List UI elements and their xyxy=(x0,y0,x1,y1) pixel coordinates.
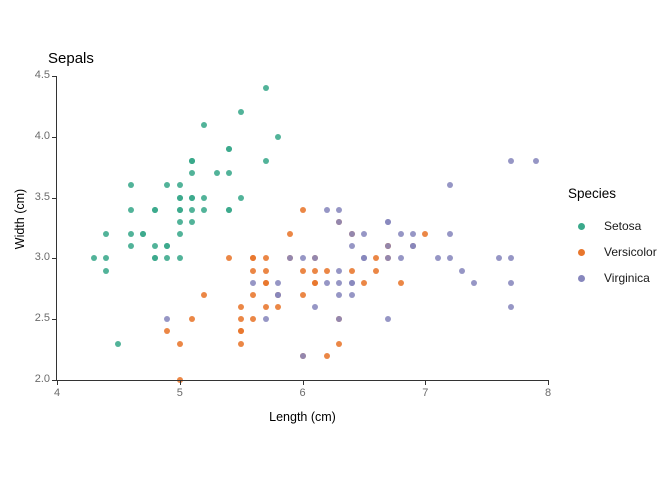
x-tick-label: 7 xyxy=(415,387,435,399)
scatter-point xyxy=(177,255,183,261)
scatter-point xyxy=(275,304,281,310)
scatter-point xyxy=(287,231,293,237)
scatter-point xyxy=(385,243,391,249)
scatter-point xyxy=(177,341,183,347)
scatter-point xyxy=(336,280,342,286)
scatter-point xyxy=(201,207,207,213)
y-tick-label: 2.5 xyxy=(24,313,50,324)
scatter-point xyxy=(373,268,379,274)
scatter-point xyxy=(263,158,269,164)
scatter-point xyxy=(189,195,195,201)
scatter-point xyxy=(300,207,306,213)
scatter-point xyxy=(152,243,158,249)
scatter-point xyxy=(140,231,146,237)
x-tick-mark xyxy=(548,381,549,385)
scatter-point xyxy=(349,280,355,286)
scatter-point xyxy=(312,255,318,261)
scatter-point xyxy=(361,231,367,237)
scatter-point xyxy=(471,280,477,286)
scatter-point xyxy=(275,280,281,286)
y-tick-mark xyxy=(52,76,56,77)
legend-item[interactable]: Versicolor xyxy=(568,239,657,265)
scatter-point xyxy=(201,292,207,298)
x-tick-mark xyxy=(425,381,426,385)
scatter-point xyxy=(177,219,183,225)
x-axis-title: Length (cm) xyxy=(0,410,605,424)
y-axis-line xyxy=(56,76,57,381)
scatter-point xyxy=(250,280,256,286)
scatter-point xyxy=(263,255,269,261)
scatter-point xyxy=(336,316,342,322)
scatter-point xyxy=(508,304,514,310)
x-tick-mark xyxy=(303,381,304,385)
scatter-point xyxy=(177,182,183,188)
scatter-point xyxy=(115,341,121,347)
scatter-point xyxy=(508,280,514,286)
scatter-point xyxy=(533,158,539,164)
y-tick-label: 3.5 xyxy=(24,192,50,203)
y-tick-mark xyxy=(52,198,56,199)
scatter-point xyxy=(164,316,170,322)
scatter-point xyxy=(385,219,391,225)
scatter-point xyxy=(250,268,256,274)
y-tick-mark xyxy=(52,380,56,381)
scatter-point xyxy=(226,170,232,176)
scatter-point xyxy=(324,207,330,213)
scatter-point xyxy=(263,304,269,310)
scatter-point xyxy=(238,341,244,347)
scatter-point xyxy=(128,207,134,213)
scatter-point xyxy=(324,268,330,274)
scatter-point xyxy=(164,182,170,188)
scatter-point xyxy=(385,316,391,322)
scatter-point xyxy=(189,316,195,322)
y-tick-label: 4.5 xyxy=(24,70,50,81)
chart-title: Sepals xyxy=(48,50,94,67)
scatter-point xyxy=(324,353,330,359)
scatter-point xyxy=(103,268,109,274)
scatter-point xyxy=(508,255,514,261)
scatter-point xyxy=(398,255,404,261)
scatter-point xyxy=(336,207,342,213)
scatter-point xyxy=(164,328,170,334)
scatter-point xyxy=(447,182,453,188)
scatter-point xyxy=(263,85,269,91)
scatter-point xyxy=(410,243,416,249)
plot-panel xyxy=(57,76,548,380)
scatter-point xyxy=(238,316,244,322)
scatter-point xyxy=(275,292,281,298)
scatter-point xyxy=(189,170,195,176)
scatter-point xyxy=(91,255,97,261)
scatter-point xyxy=(152,207,158,213)
scatter-points-layer xyxy=(57,76,548,380)
scatter-point xyxy=(238,195,244,201)
scatter-point xyxy=(324,280,330,286)
y-tick-label: 4.0 xyxy=(24,131,50,142)
scatter-point xyxy=(226,146,232,152)
x-tick-label: 5 xyxy=(170,387,190,399)
scatter-point xyxy=(164,255,170,261)
scatter-point xyxy=(508,158,514,164)
y-tick-mark xyxy=(52,137,56,138)
scatter-point xyxy=(336,341,342,347)
legend-marker-icon xyxy=(578,249,585,256)
x-tick-mark xyxy=(57,381,58,385)
y-tick-label: 3.0 xyxy=(24,252,50,263)
scatter-point xyxy=(226,207,232,213)
scatter-point xyxy=(152,255,158,261)
scatter-point xyxy=(275,134,281,140)
scatter-point xyxy=(238,109,244,115)
scatter-point xyxy=(385,255,391,261)
scatter-point xyxy=(312,304,318,310)
scatter-point xyxy=(312,280,318,286)
scatter-point xyxy=(336,219,342,225)
scatter-point xyxy=(201,195,207,201)
scatter-point xyxy=(238,304,244,310)
scatter-point xyxy=(103,231,109,237)
legend-item-label: Versicolor xyxy=(604,245,657,259)
scatter-point xyxy=(312,268,318,274)
scatter-point xyxy=(336,268,342,274)
scatter-point xyxy=(300,255,306,261)
scatter-point xyxy=(189,158,195,164)
scatter-point xyxy=(398,280,404,286)
scatter-point xyxy=(459,268,465,274)
x-tick-label: 8 xyxy=(538,387,558,399)
scatter-point xyxy=(361,280,367,286)
scatter-point xyxy=(128,231,134,237)
y-tick-mark xyxy=(52,319,56,320)
scatter-point xyxy=(410,231,416,237)
scatter-point xyxy=(287,255,293,261)
scatter-point xyxy=(398,231,404,237)
scatter-point xyxy=(263,316,269,322)
scatter-point xyxy=(128,243,134,249)
scatter-point xyxy=(263,280,269,286)
y-tick-mark xyxy=(52,258,56,259)
y-tick-label: 2.0 xyxy=(24,374,50,385)
scatter-point xyxy=(373,255,379,261)
scatter-point xyxy=(189,207,195,213)
x-tick-label: 6 xyxy=(293,387,313,399)
scatter-point xyxy=(164,243,170,249)
scatter-point xyxy=(263,268,269,274)
legend: Species SetosaVersicolorVirginica xyxy=(568,186,657,291)
x-tick-label: 4 xyxy=(47,387,67,399)
scatter-point xyxy=(128,182,134,188)
scatter-point xyxy=(496,255,502,261)
legend-marker-icon xyxy=(578,223,585,230)
scatter-point xyxy=(238,328,244,334)
scatter-point xyxy=(226,255,232,261)
scatter-point xyxy=(250,292,256,298)
legend-entries: SetosaVersicolorVirginica xyxy=(568,213,657,291)
scatter-point xyxy=(447,255,453,261)
scatter-point xyxy=(250,255,256,261)
scatter-point xyxy=(177,231,183,237)
y-axis-title: Width (cm) xyxy=(13,159,27,279)
scatter-point xyxy=(189,219,195,225)
scatter-point xyxy=(177,195,183,201)
scatter-point xyxy=(349,231,355,237)
legend-item[interactable]: Virginica xyxy=(568,265,657,291)
scatter-point xyxy=(300,268,306,274)
scatter-point xyxy=(349,268,355,274)
scatter-point xyxy=(250,316,256,322)
chart-container: Sepals 2.02.53.03.54.04.5 45678 Length (… xyxy=(0,0,672,480)
legend-marker-icon xyxy=(578,275,585,282)
scatter-point xyxy=(349,243,355,249)
scatter-point xyxy=(300,292,306,298)
scatter-point xyxy=(435,255,441,261)
scatter-point xyxy=(300,353,306,359)
scatter-point xyxy=(447,231,453,237)
scatter-point xyxy=(422,231,428,237)
legend-item-label: Setosa xyxy=(604,219,641,233)
scatter-point xyxy=(214,170,220,176)
scatter-point xyxy=(361,255,367,261)
legend-item-label: Virginica xyxy=(604,271,650,285)
scatter-point xyxy=(177,207,183,213)
scatter-point xyxy=(201,122,207,128)
legend-item[interactable]: Setosa xyxy=(568,213,657,239)
legend-title: Species xyxy=(568,186,657,201)
scatter-point xyxy=(349,292,355,298)
x-tick-mark xyxy=(180,381,181,385)
scatter-point xyxy=(103,255,109,261)
scatter-point xyxy=(336,292,342,298)
